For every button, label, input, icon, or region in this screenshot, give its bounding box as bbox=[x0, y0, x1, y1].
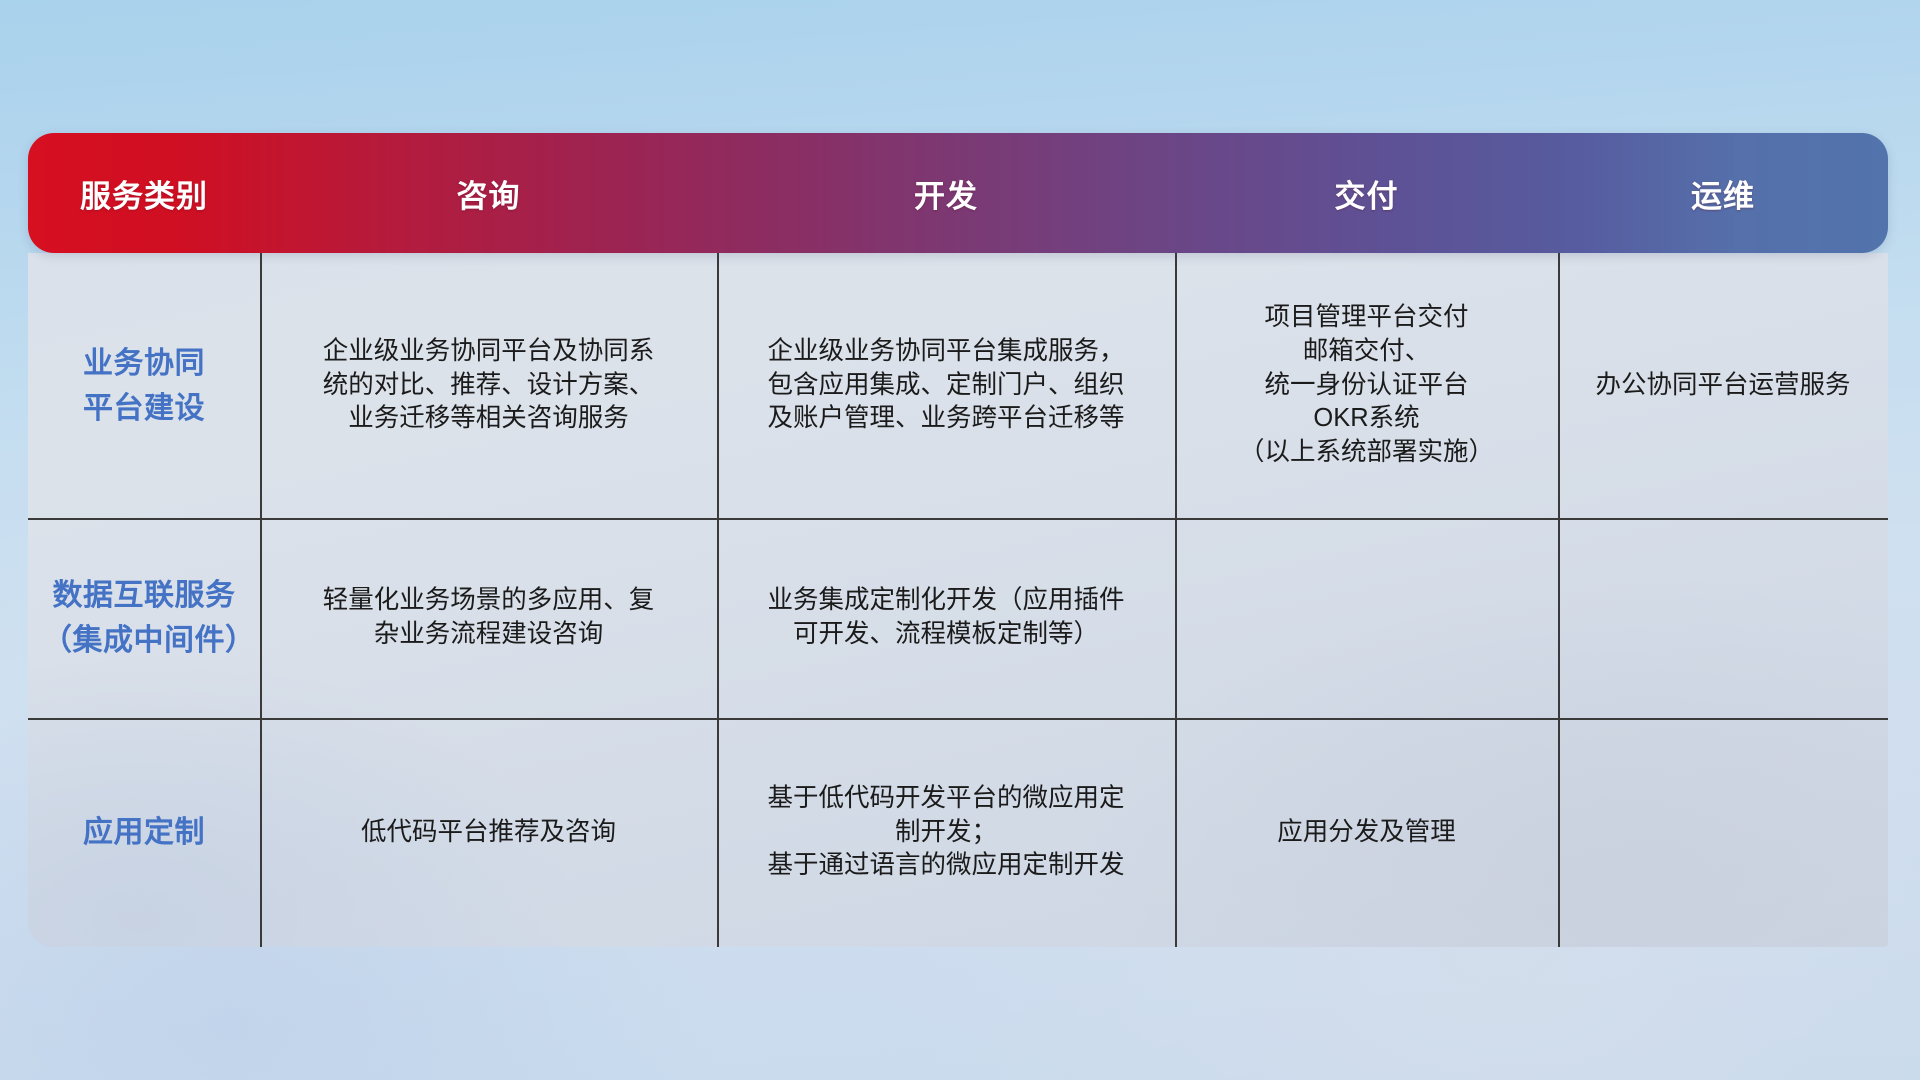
cell-development: 业务集成定制化开发（应用插件 可开发、流程模板定制等） bbox=[717, 518, 1175, 718]
table-body: 业务协同 平台建设 企业级业务协同平台及协同系 统的对比、推荐、设计方案、 业务… bbox=[28, 253, 1888, 947]
cell-consulting: 轻量化业务场景的多应用、复 杂业务流程建设咨询 bbox=[260, 518, 717, 718]
cell-operations: 办公协同平台运营服务 bbox=[1558, 253, 1888, 518]
service-matrix-table: 服务类别 咨询 开发 交付 运维 业务协同 平台建设 企业级业务协同平台及协同系… bbox=[28, 133, 1888, 947]
cell-delivery bbox=[1175, 518, 1558, 718]
cell-development: 基于低代码开发平台的微应用定 制开发； 基于通过语言的微应用定制开发 bbox=[717, 718, 1175, 947]
column-header-operations: 运维 bbox=[1558, 133, 1888, 253]
column-header-development: 开发 bbox=[717, 133, 1175, 253]
table-row: 数据互联服务 （集成中间件） 轻量化业务场景的多应用、复 杂业务流程建设咨询 业… bbox=[28, 518, 1888, 718]
row-category-label: 业务协同 平台建设 bbox=[28, 253, 260, 518]
table-row: 应用定制 低代码平台推荐及咨询 基于低代码开发平台的微应用定 制开发； 基于通过… bbox=[28, 718, 1888, 947]
cell-operations bbox=[1558, 718, 1888, 947]
table-header-row: 服务类别 咨询 开发 交付 运维 bbox=[28, 133, 1888, 253]
table-row: 业务协同 平台建设 企业级业务协同平台及协同系 统的对比、推荐、设计方案、 业务… bbox=[28, 253, 1888, 518]
row-category-label: 数据互联服务 （集成中间件） bbox=[28, 518, 260, 718]
cell-delivery: 项目管理平台交付 邮箱交付、 统一身份认证平台 OKR系统 （以上系统部署实施） bbox=[1175, 253, 1558, 518]
column-header-category: 服务类别 bbox=[28, 133, 260, 253]
row-category-label: 应用定制 bbox=[28, 718, 260, 947]
cell-operations bbox=[1558, 518, 1888, 718]
column-header-delivery: 交付 bbox=[1175, 133, 1558, 253]
cell-consulting: 低代码平台推荐及咨询 bbox=[260, 718, 717, 947]
column-header-consulting: 咨询 bbox=[260, 133, 717, 253]
cell-delivery: 应用分发及管理 bbox=[1175, 718, 1558, 947]
cell-consulting: 企业级业务协同平台及协同系 统的对比、推荐、设计方案、 业务迁移等相关咨询服务 bbox=[260, 253, 717, 518]
cell-development: 企业级业务协同平台集成服务， 包含应用集成、定制门户、组织 及账户管理、业务跨平… bbox=[717, 253, 1175, 518]
